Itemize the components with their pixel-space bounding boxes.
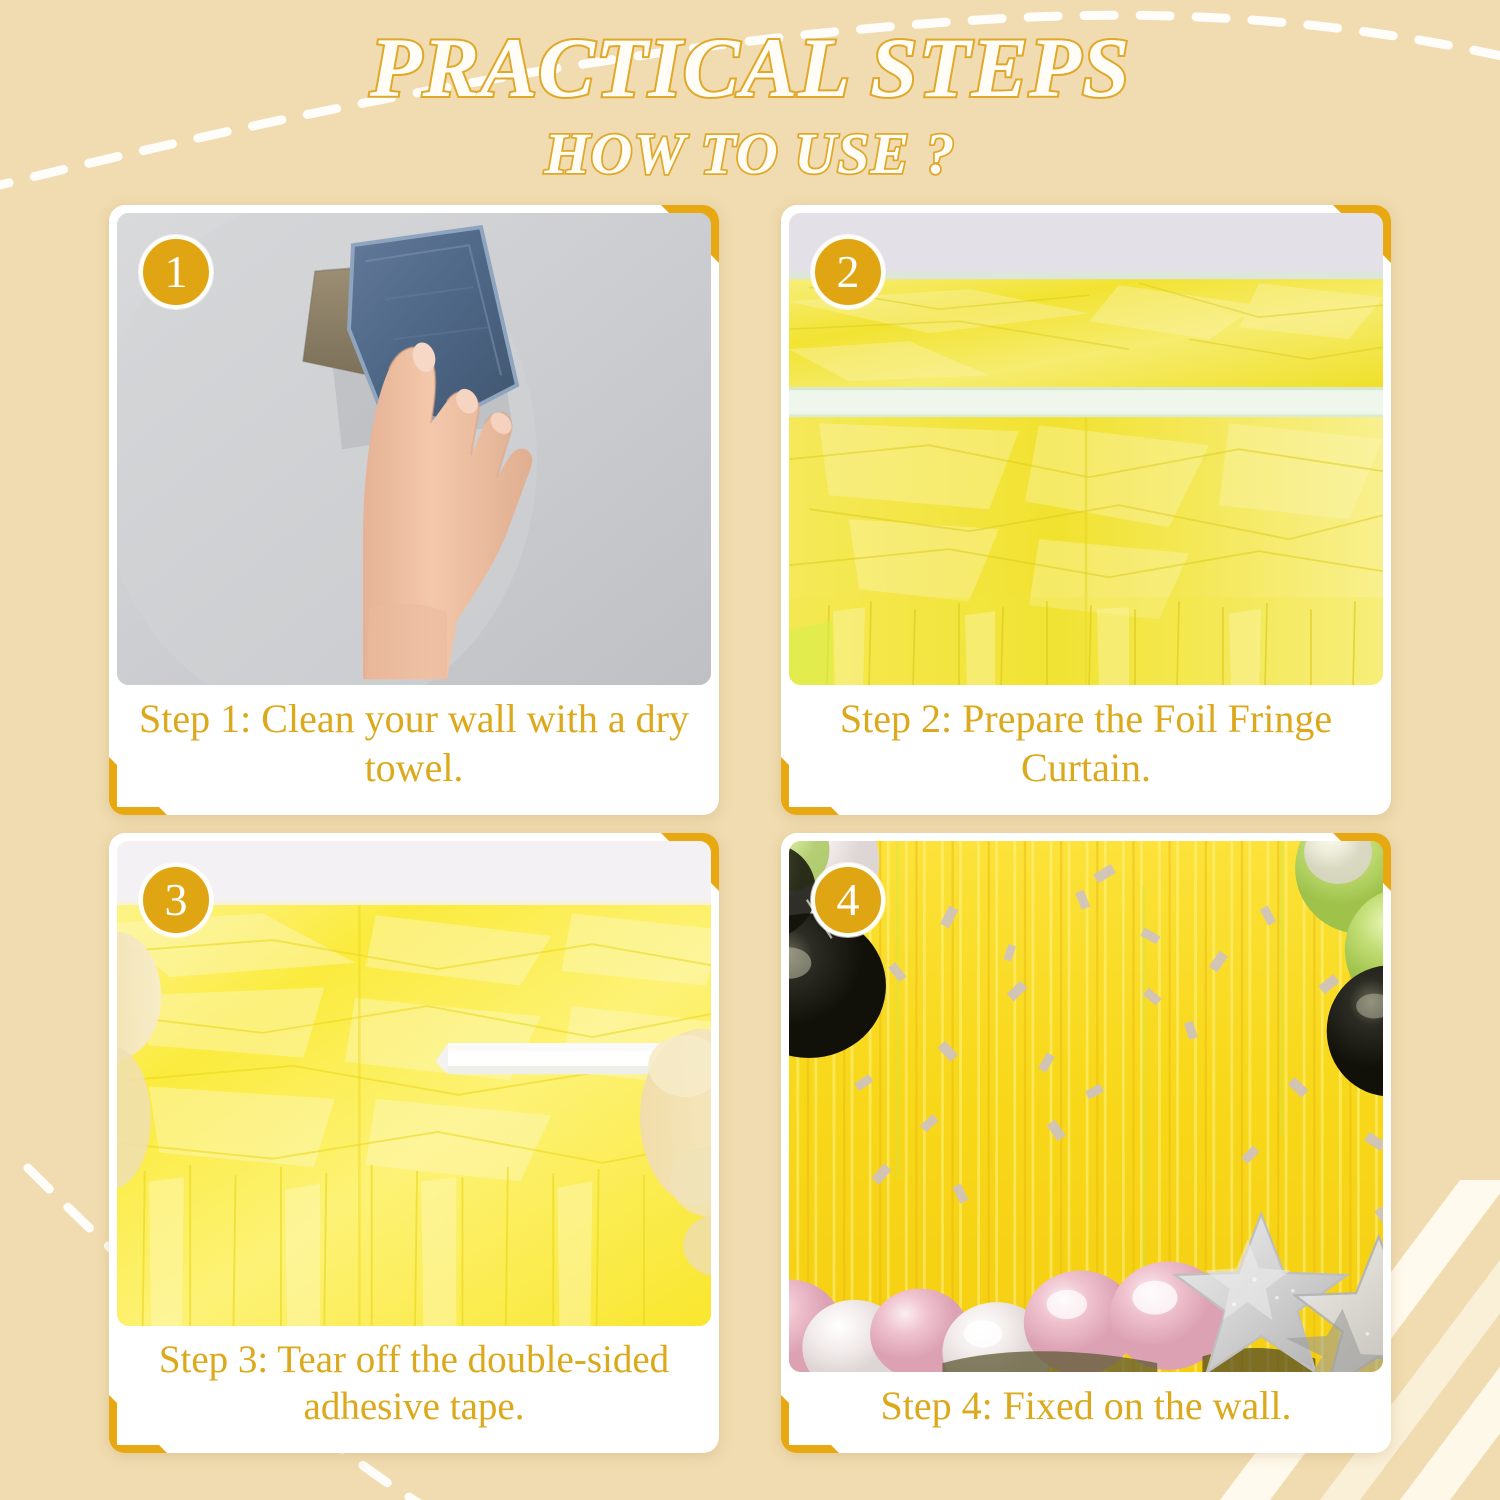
- step-caption-3: Step 3: Tear off the double-sided adhesi…: [117, 1326, 711, 1445]
- page-subtitle: HOW TO USE ?: [0, 125, 1500, 183]
- step-card-4[interactable]: 4 Step 4: Fixed on the wall.: [781, 833, 1391, 1453]
- step-badge-1: 1: [139, 235, 213, 309]
- infographic-page: PRACTICAL STEPS HOW TO USE ?: [0, 0, 1500, 1500]
- step-card-2[interactable]: 2 Step 2: Prepare the Foil Fringe Curtai…: [781, 205, 1391, 815]
- step-caption-1: Step 1: Clean your wall with a dry towel…: [117, 685, 711, 807]
- header: PRACTICAL STEPS HOW TO USE ?: [0, 0, 1500, 183]
- step-card-1[interactable]: 1 Step 1: Clean your wall with a dry tow…: [109, 205, 719, 815]
- steps-grid: 1 Step 1: Clean your wall with a dry tow…: [0, 183, 1500, 1453]
- step-badge-4: 4: [811, 863, 885, 937]
- page-title: PRACTICAL STEPS: [0, 26, 1500, 111]
- step-caption-2: Step 2: Prepare the Foil Fringe Curtain.: [789, 685, 1383, 807]
- step-badge-3: 3: [139, 863, 213, 937]
- step-caption-4: Step 4: Fixed on the wall.: [789, 1372, 1383, 1445]
- step-4-photo: 4: [789, 841, 1383, 1372]
- step-1-photo: 1: [117, 213, 711, 685]
- step-card-3[interactable]: 3 Step 3: Tear off the double-sided adhe…: [109, 833, 719, 1453]
- step-badge-2: 2: [811, 235, 885, 309]
- step-2-photo: 2: [789, 213, 1383, 685]
- step-3-photo: 3: [117, 841, 711, 1326]
